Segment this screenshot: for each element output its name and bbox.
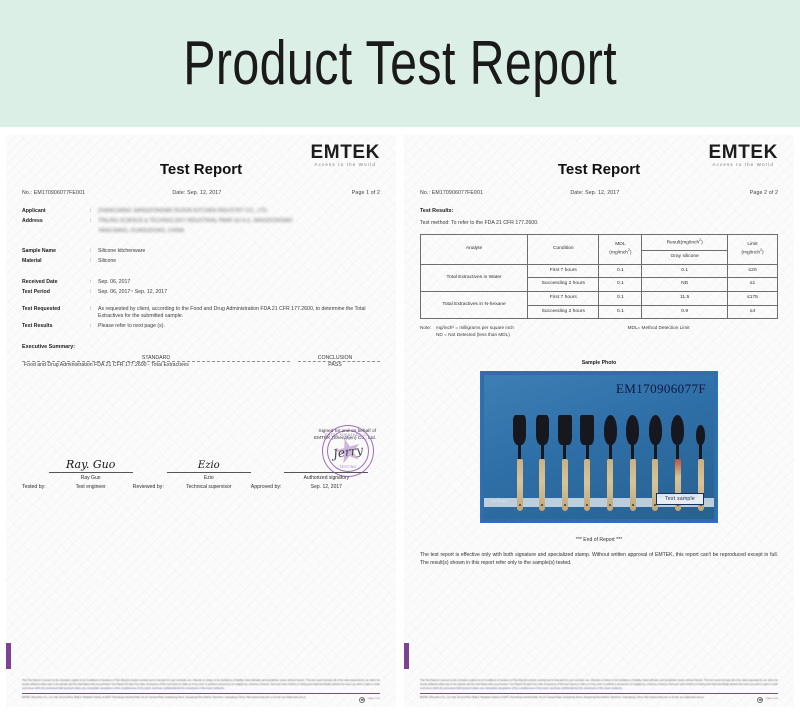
utensil-head	[671, 415, 684, 445]
page2-edge-mark	[404, 643, 409, 669]
note-line2: ND = Not Detected (less than MDL)	[436, 331, 514, 338]
field-colon: :	[90, 306, 98, 322]
cell-limit: ≤175	[727, 292, 777, 306]
cell-analyte: Total Extractives in N-hexane	[421, 292, 528, 319]
field-value: ZHANGJIANG JIANGDONGMEI RUIXIN KITCHEN I…	[98, 208, 380, 216]
page2-page-number: Page 2 of 2	[696, 190, 778, 196]
reviewed-by-signature: Ezio	[198, 460, 220, 471]
cnas-seal-icon	[757, 697, 763, 703]
reviewed-by-role: Technical supervisor	[167, 483, 251, 491]
utensil-handle	[539, 459, 545, 511]
page1-footer: This Test Report is issued by the Compan…	[22, 679, 380, 703]
field-address-line2: YANGJIANG, GUANGDONG, CHINA	[22, 228, 380, 236]
signature-approved-by: Approved by: Authorized signatory Sep. 1…	[251, 447, 369, 491]
page1-footer-rule	[22, 693, 380, 694]
table-row: Total Extractives in Water First 7 hours…	[421, 264, 778, 278]
cell-condition: First 7 hours	[528, 292, 599, 306]
approved-by-role: Authorized signatory	[284, 474, 368, 482]
cell-result: 0.1	[642, 264, 728, 278]
utensil-head	[558, 415, 572, 445]
cell-condition: Succeeding 2 hours	[528, 278, 599, 292]
utensil-head	[513, 415, 526, 445]
page2-report-number: No.: EM170906077FE001	[420, 190, 570, 196]
header-mdl: MDL (mg/inch2)	[599, 235, 642, 265]
field-colon: :	[90, 323, 98, 331]
cell-limit: ≤20	[727, 264, 777, 278]
signed-on-behalf-note: Signed for and on behalf of EMTEK (Shenz…	[22, 428, 380, 443]
table-row: Total Extractives in N-hexane First 7 ho…	[421, 292, 778, 306]
header-result-sup: 2	[699, 238, 701, 242]
sample-photo-code: EM170906077F	[616, 381, 706, 397]
header-limit-label: Limit	[747, 242, 757, 247]
cell-condition: Succeeding 2 hours	[528, 305, 599, 319]
signature-area: Signed for and on behalf of EMTEK (Shenz…	[22, 428, 380, 491]
approved-by-date: Sep. 12, 2017	[284, 483, 368, 491]
executive-summary-title: Executive Summary:	[22, 344, 380, 350]
page1-report-date: Date: Sep. 12, 2017	[172, 190, 297, 196]
tested-by-role: Test engineer	[49, 483, 133, 491]
note-left: Note: mg/inch² = milligrams per square i…	[420, 324, 628, 338]
tested-by-name: Ray Guo	[49, 474, 133, 482]
cell-mdl: 0.1	[599, 305, 642, 319]
cell-mdl: 0.1	[599, 278, 642, 292]
utensil-neck	[676, 445, 679, 459]
cnas-seal-icon	[359, 697, 365, 703]
field-received-date: Received Date : Sep. 06, 2017	[22, 279, 380, 287]
cell-mdl: 0.1	[599, 292, 642, 306]
field-colon: :	[90, 289, 98, 297]
utensil-spatula	[557, 415, 572, 513]
page1-report-number: No.: EM170906077FE001	[22, 190, 172, 196]
test-results-table: Analyte Condition MDL (mg/inch2) Result(…	[420, 234, 778, 319]
utensil-head	[604, 415, 617, 445]
utensil-neck	[586, 445, 589, 459]
page2-meta-row: No.: EM170906077FE001 Date: Sep. 12, 201…	[420, 190, 778, 196]
utensil-handle	[517, 459, 523, 511]
note-right: MDL= Method Detection Limit	[628, 324, 778, 338]
page2-seal-text: CNAS L0119	[765, 698, 778, 701]
utensil-pasta-fork	[535, 415, 550, 513]
signature-reviewed-by: Reviewed by: Ezio Ezio Technical supervi…	[133, 447, 251, 491]
header-limit-sup: 2	[760, 248, 762, 252]
field-label: Test Period	[22, 289, 90, 297]
test-method-line: Test method: To refer to the FDA 21 CFR …	[420, 220, 778, 226]
utensil-neck	[541, 445, 544, 459]
utensil-handle	[584, 459, 590, 511]
utensil-neck	[654, 445, 657, 459]
field-value: Silicone kitchenware	[98, 248, 380, 256]
header-mdl-unit: (mg/inch	[609, 251, 628, 256]
signature-row: Tested by: Ray. Guo Ray Guo Test enginee…	[22, 447, 380, 491]
field-label: Received Date	[22, 279, 90, 287]
page-title: Product Test Report	[183, 28, 617, 99]
field-test-period: Test Period : Sep. 06, 2017~ Sep. 12, 20…	[22, 289, 380, 297]
header-mdl-sup: 2	[628, 248, 630, 252]
field-value: Please refer to next page (s).	[98, 323, 380, 331]
header-result: Result(mg/inch2)	[642, 235, 728, 251]
utensil-head	[626, 415, 639, 445]
utensil-neck	[631, 445, 634, 459]
page1-footer-disclaimer: This Test Report is issued by the Compan…	[22, 679, 380, 691]
field-label	[22, 228, 90, 236]
page1-page-number: Page 1 of 2	[298, 190, 380, 196]
report-page-1: EMTEK Access to the World Test Report No…	[6, 135, 396, 707]
field-value: TINLING SCIENCE & TECHNOLOGY INDUSTRIAL …	[98, 218, 380, 226]
approved-by-label: Approved by:	[251, 484, 282, 491]
header-condition: Condition	[528, 235, 599, 265]
utensil-turner	[580, 415, 595, 513]
standard-value: Food and Drug Administration FDA 21 CFR …	[22, 362, 290, 368]
field-label: Test Results	[22, 323, 90, 331]
page1-footer-address-row: EMTEK (Shenzhen) Co., Ltd. Add: 1st-2nd …	[22, 696, 380, 703]
field-test-results: Test Results : Please refer to next page…	[22, 323, 380, 331]
field-colon	[90, 228, 98, 236]
page-banner: Product Test Report	[0, 0, 800, 127]
header-limit-unit: (mg/inch	[741, 251, 760, 256]
sample-photo-label: Test sample	[656, 493, 704, 505]
field-value: Silicone	[98, 258, 380, 266]
page2-footer: This Test Report is issued by the Compan…	[420, 679, 778, 703]
field-label: Material	[22, 258, 90, 266]
tested-by-signature: Ray. Guo	[66, 458, 115, 471]
cell-mdl: 0.1	[599, 264, 642, 278]
utensil-slotted-spoon	[625, 415, 640, 513]
emtek-logo-tagline: Access to the World	[709, 163, 779, 168]
field-test-requested: Test Requested : As requested by client,…	[22, 306, 380, 322]
utensil-head	[580, 415, 594, 445]
page2-footer-disclaimer: This Test Report is issued by the Compan…	[420, 679, 778, 691]
utensil-neck	[563, 445, 566, 459]
field-colon: :	[90, 258, 98, 266]
utensil-mixing-spoon	[603, 415, 618, 513]
field-address: Address : TINLING SCIENCE & TECHNOLOGY I…	[22, 218, 380, 226]
field-label: Applicant	[22, 208, 90, 216]
page2-report-date: Date: Sep. 12, 2017	[570, 190, 695, 196]
report-page-2: EMTEK Access to the World Test Report No…	[404, 135, 794, 707]
field-label: Test Requested	[22, 306, 90, 322]
utensil-neck	[699, 445, 702, 459]
tested-by-label: Tested by:	[22, 484, 46, 491]
table-note: Note: mg/inch² = milligrams per square i…	[420, 324, 778, 338]
report-disclaimer: The test report is effective only with b…	[420, 552, 778, 568]
header-analyte: Analyte	[421, 235, 528, 265]
field-colon: :	[90, 248, 98, 256]
conclusion-value: PASS	[290, 362, 380, 368]
cell-result: 11.5	[642, 292, 728, 306]
utensil-head	[696, 425, 705, 445]
utensil-head	[536, 415, 549, 445]
cell-condition: First 7 hours	[528, 264, 599, 278]
note-key: Note:	[420, 324, 436, 338]
cell-result: 0.9	[642, 305, 728, 319]
report-pages: EMTEK Access to the World Test Report No…	[0, 127, 800, 713]
page1-seal-text: CNAS L0119	[367, 698, 380, 701]
utensil-head	[649, 415, 662, 445]
signature-tested-by: Tested by: Ray. Guo Ray Guo Test enginee…	[22, 447, 133, 491]
field-value: Sep. 06, 2017	[98, 279, 380, 287]
sample-photo: EM170906077F	[480, 371, 718, 523]
sample-photo-title: Sample Photo	[420, 360, 778, 366]
field-colon: :	[90, 279, 98, 287]
utensil-neck	[609, 445, 612, 459]
note-line1: mg/inch² = milligrams per square inch	[436, 324, 514, 331]
field-applicant: Applicant : ZHANGJIANG JIANGDONGMEI RUIX…	[22, 208, 380, 216]
field-colon: :	[90, 208, 98, 216]
page1-meta-row: No.: EM170906077FE001 Date: Sep. 12, 201…	[22, 190, 380, 196]
signed-note-line2: EMTEK (Shenzhen) Co., Ltd.	[22, 435, 376, 442]
photo-corner-caption: Test Sample	[490, 499, 508, 503]
approved-by-signature-line	[284, 447, 368, 473]
header-result-sub: Gray silicone	[642, 251, 728, 265]
page1-footer-address: EMTEK (Shenzhen) Co., Ltd. Add: 1st-2nd …	[22, 696, 353, 700]
page2-footer-rule	[420, 693, 778, 694]
page1-edge-mark	[6, 643, 11, 669]
page2-footer-address: EMTEK (Shenzhen) Co., Ltd. Add: 1st-2nd …	[420, 696, 751, 700]
utensil-handle	[630, 459, 636, 511]
test-results-heading: Test Results:	[420, 208, 778, 214]
header-mdl-label: MDL	[615, 242, 625, 247]
field-value: Sep. 06, 2017~ Sep. 12, 2017	[98, 289, 380, 297]
table-header-row: Analyte Condition MDL (mg/inch2) Result(…	[421, 235, 778, 251]
emtek-logo-tagline: Access to the World	[311, 163, 381, 168]
cell-limit: ≤1	[727, 278, 777, 292]
cell-analyte: Total Extractives in Water	[421, 264, 528, 291]
utensil-handle	[562, 459, 568, 511]
page1-accreditation-seal: CNAS L0119	[359, 696, 380, 703]
tested-by-signature-line: Ray. Guo	[49, 447, 133, 473]
page2-accreditation-seal: CNAS L0119	[757, 696, 778, 703]
field-material: Material : Silicone	[22, 258, 380, 266]
field-value: YANGJIANG, GUANGDONG, CHINA	[98, 228, 380, 236]
field-value: As requested by client, according to the…	[98, 306, 380, 322]
page2-footer-address-row: EMTEK (Shenzhen) Co., Ltd. Add: 1st-2nd …	[420, 696, 778, 703]
sample-photo-image: EM170906077F	[484, 375, 714, 519]
field-sample-name: Sample Name : Silicone kitchenware	[22, 248, 380, 256]
emtek-logo-text: EMTEK	[709, 143, 779, 162]
field-label: Address	[22, 218, 90, 226]
reviewed-by-name: Ezio	[167, 474, 251, 482]
field-colon: :	[90, 218, 98, 226]
cell-limit: ≤4	[727, 305, 777, 319]
executive-summary-row: Food and Drug Administration FDA 21 CFR …	[22, 362, 380, 368]
signed-note-line1: Signed for and on behalf of	[22, 428, 376, 435]
reviewed-by-signature-line: Ezio	[167, 447, 251, 473]
header-limit: Limit (mg/inch2)	[727, 235, 777, 265]
reviewed-by-label: Reviewed by:	[133, 484, 164, 491]
utensil-neck	[518, 445, 521, 459]
utensil-handle	[607, 459, 613, 511]
cell-result: ND	[642, 278, 728, 292]
utensil-slotted-turner	[512, 415, 527, 513]
field-label: Sample Name	[22, 248, 90, 256]
emtek-logo-text: EMTEK	[311, 143, 381, 162]
end-of-report-marker: *** End of Report ***	[420, 537, 778, 543]
header-result-label: Result(mg/inch	[667, 241, 700, 246]
